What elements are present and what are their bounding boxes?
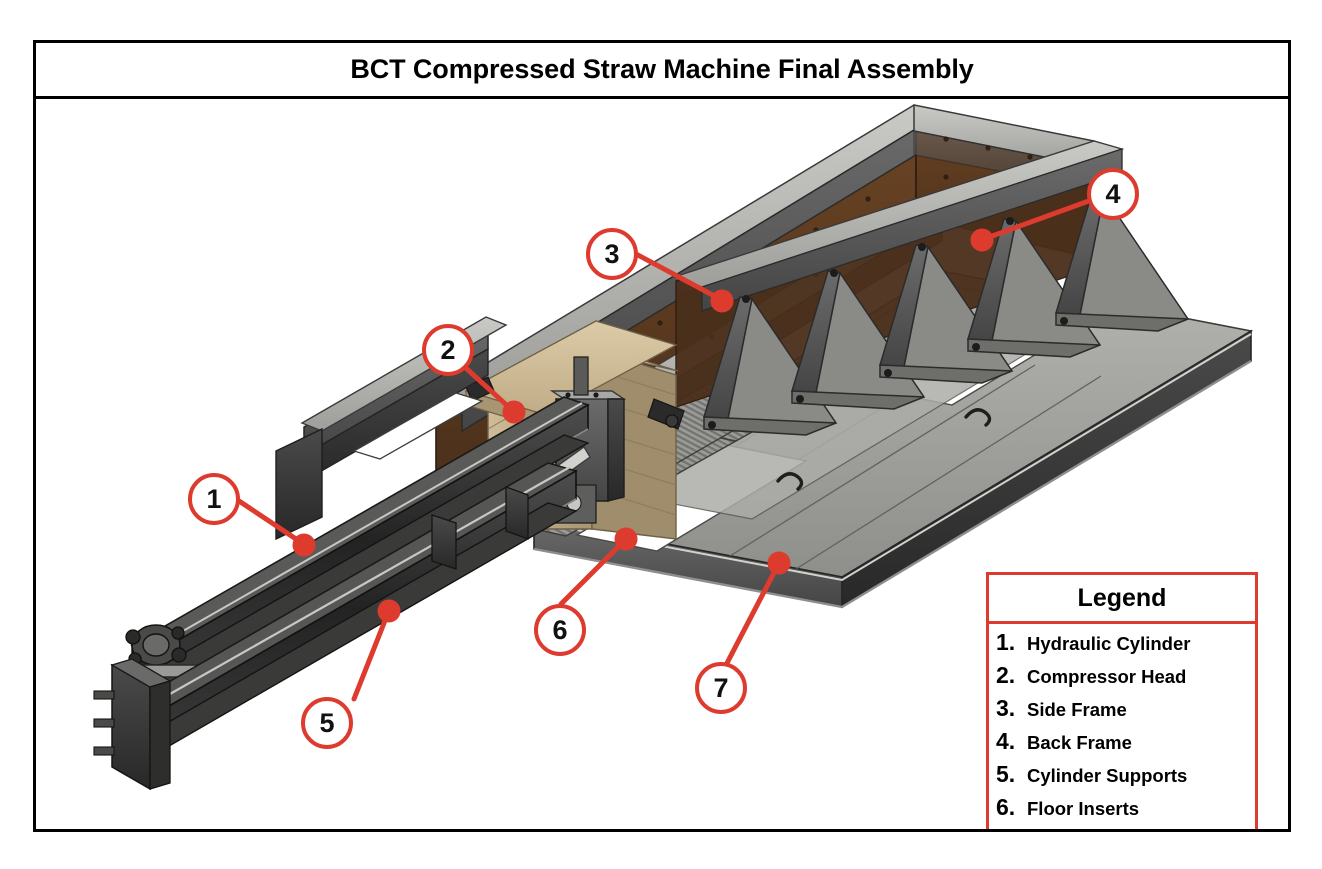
legend-item-6-number: 6. — [996, 794, 1023, 821]
callout-6-number: 6 — [552, 615, 567, 646]
legend-item-2-number: 2. — [996, 662, 1023, 689]
callout-1-number: 1 — [206, 484, 221, 515]
legend-item-1: 1. Hydraulic Cylinder — [996, 629, 1255, 662]
legend-item-2: 2. Compressor Head — [996, 662, 1255, 695]
title-bar: BCT Compressed Straw Machine Final Assem… — [36, 43, 1288, 99]
callout-7-number: 7 — [713, 673, 728, 704]
legend-items-list: 1. Hydraulic Cylinder 2. Compressor Head… — [989, 624, 1255, 829]
page-title: BCT Compressed Straw Machine Final Assem… — [350, 54, 973, 85]
callout-7-bottom-frame[interactable]: 7 — [695, 662, 747, 714]
legend-item-2-label: Compressor Head — [1027, 666, 1186, 688]
legend-box: Legend 1. Hydraulic Cylinder 2. Compress… — [986, 572, 1258, 829]
callout-5-number: 5 — [319, 708, 334, 739]
callout-1-hydraulic-cylinder[interactable]: 1 — [188, 473, 240, 525]
legend-item-4-label: Back Frame — [1027, 732, 1132, 754]
callout-2-compressor-head[interactable]: 2 — [422, 324, 474, 376]
legend-item-3: 3. Side Frame — [996, 695, 1255, 728]
callout-5-cylinder-supports[interactable]: 5 — [301, 697, 353, 749]
legend-item-6: 6. Floor Inserts — [996, 794, 1255, 827]
assembly-drawing-area: 1 2 3 4 5 6 7 Legend 1. Hydrau — [36, 99, 1288, 829]
drawing-sheet: BCT Compressed Straw Machine Final Assem… — [33, 40, 1291, 832]
legend-title: Legend — [1078, 584, 1167, 613]
legend-item-6-label: Floor Inserts — [1027, 798, 1139, 820]
callout-6-floor-inserts[interactable]: 6 — [534, 604, 586, 656]
legend-item-4-number: 4. — [996, 728, 1023, 755]
callout-3-side-frame[interactable]: 3 — [586, 228, 638, 280]
legend-item-7: 7. Bottom Frame — [996, 827, 1255, 829]
legend-header: Legend — [989, 575, 1255, 624]
legend-item-7-number: 7. — [996, 827, 1023, 829]
callout-2-number: 2 — [440, 335, 455, 366]
legend-item-1-number: 1. — [996, 629, 1023, 656]
legend-item-4: 4. Back Frame — [996, 728, 1255, 761]
legend-item-5: 5. Cylinder Supports — [996, 761, 1255, 794]
legend-item-3-number: 3. — [996, 695, 1023, 722]
legend-item-3-label: Side Frame — [1027, 699, 1127, 721]
callout-4-number: 4 — [1105, 179, 1120, 210]
callout-3-number: 3 — [604, 239, 619, 270]
legend-item-5-label: Cylinder Supports — [1027, 765, 1187, 787]
legend-item-5-number: 5. — [996, 761, 1023, 788]
legend-item-1-label: Hydraulic Cylinder — [1027, 633, 1190, 655]
callout-4-back-frame[interactable]: 4 — [1087, 168, 1139, 220]
